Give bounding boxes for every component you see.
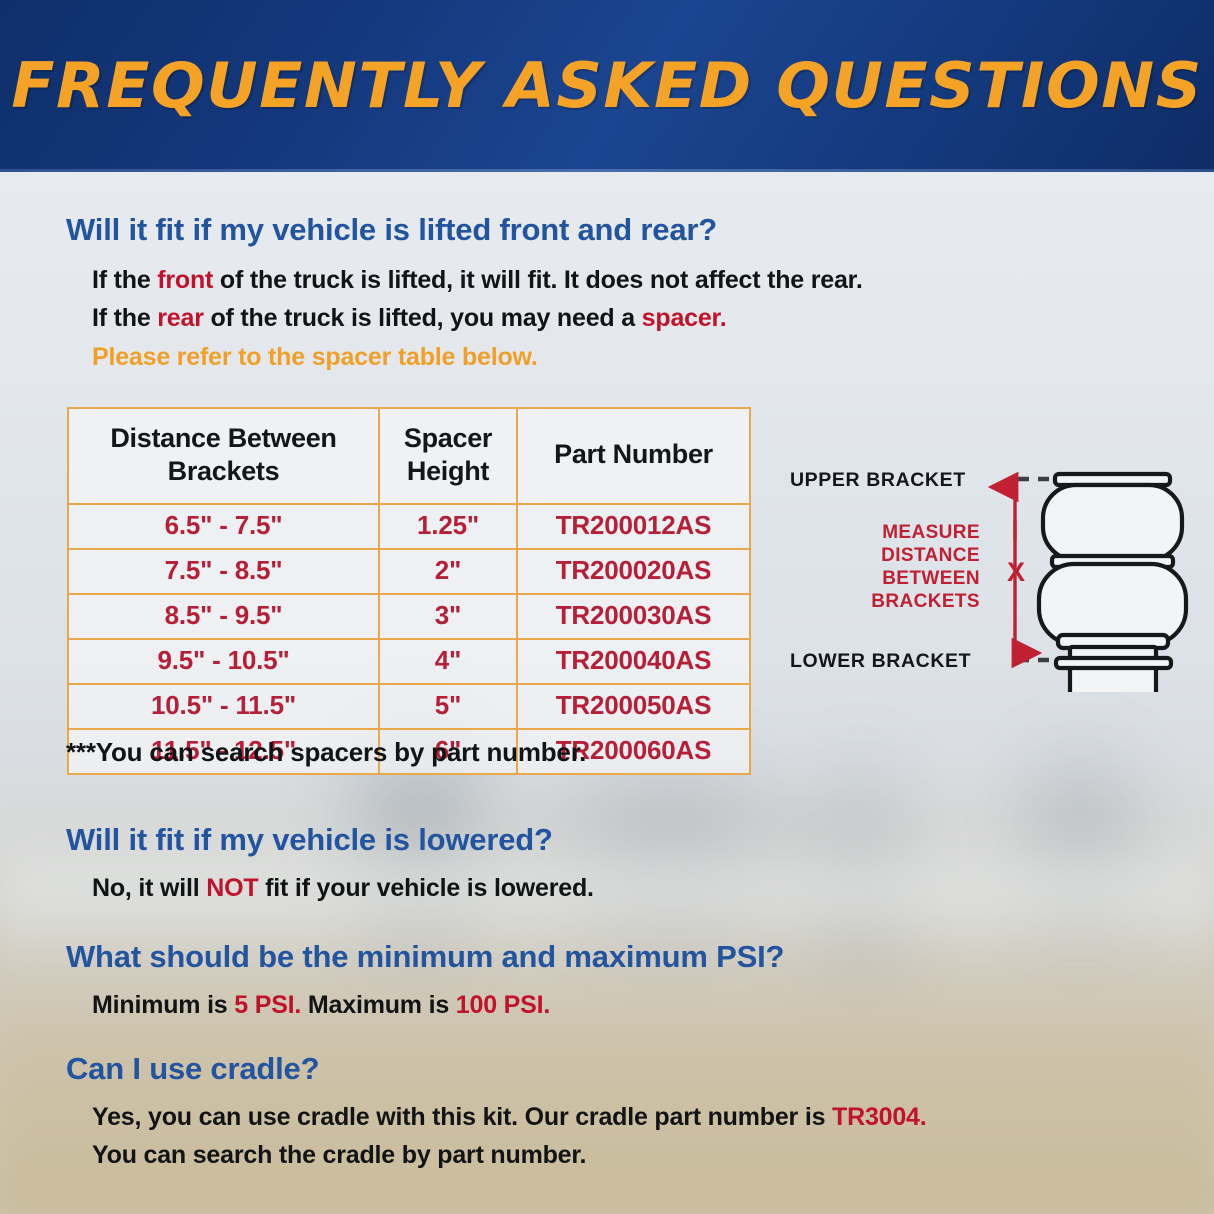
table-header-row: Distance Between Brackets Spacer Height … (68, 408, 750, 504)
faq-answer-line: Yes, you can use cradle with this kit. O… (92, 1098, 927, 1137)
measure-line-3: BETWEEN (882, 568, 980, 589)
answer-segment: TR3004. (832, 1103, 927, 1131)
faq-answer-cradle: Yes, you can use cradle with this kit. O… (92, 1098, 927, 1175)
spacer-table-head: Distance Between Brackets Spacer Height … (68, 408, 750, 504)
faq-answer-psi: Minimum is 5 PSI. Maximum is 100 PSI. (92, 986, 784, 1025)
cell-part-number: TR200012AS (517, 504, 750, 549)
faq-answer-line: If the front of the truck is lifted, it … (92, 261, 863, 300)
cell-distance: 10.5" - 11.5" (68, 684, 379, 729)
answer-segment: 100 PSI. (456, 991, 550, 1019)
lower-bracket-label: LOWER BRACKET (790, 650, 971, 672)
table-row: 7.5" - 8.5"2"TR200020AS (68, 549, 750, 594)
table-row: 8.5" - 9.5"3"TR200030AS (68, 594, 750, 639)
cell-spacer-height: 4" (379, 639, 517, 684)
answer-segment: No, it will (92, 874, 206, 902)
cell-spacer-height: 5" (379, 684, 517, 729)
answer-segment: Minimum is (92, 991, 234, 1019)
faq-answer-line: Please refer to the spacer table below. (92, 338, 863, 377)
answer-segment: You can search the cradle by part number… (92, 1141, 586, 1169)
faq-question-lifted: Will it fit if my vehicle is lifted fron… (66, 213, 863, 248)
answer-segment: If the (92, 304, 157, 332)
faq-question-cradle: Can I use cradle? (66, 1052, 927, 1087)
cell-part-number: TR200050AS (517, 684, 750, 729)
upper-bracket-label: UPPER BRACKET (790, 469, 966, 491)
dimension-symbol-x: X (1007, 557, 1025, 587)
cell-spacer-height: 2" (379, 549, 517, 594)
cell-part-number: TR200040AS (517, 639, 750, 684)
faq-answer-lifted: If the front of the truck is lifted, it … (92, 261, 863, 377)
cell-spacer-height: 3" (379, 594, 517, 639)
spacer-table: Distance Between Brackets Spacer Height … (67, 407, 751, 775)
faq-answer-lowered: No, it will NOT fit if your vehicle is l… (92, 869, 594, 908)
faq-item-psi: What should be the minimum and maximum P… (66, 940, 784, 1024)
answer-segment: Yes, you can use cradle with this kit. O… (92, 1103, 832, 1131)
answer-segment: Maximum is (301, 991, 456, 1019)
cell-part-number: TR200020AS (517, 549, 750, 594)
column-header-spacer: Spacer Height (379, 408, 517, 504)
page-header-banner: FREQUENTLY ASKED QUESTIONS (0, 0, 1214, 172)
answer-segment: Please refer to the spacer table below. (92, 343, 538, 371)
measure-line-1: MEASURE (882, 522, 980, 543)
table-row: 9.5" - 10.5"4"TR200040AS (68, 639, 750, 684)
answer-segment: of the truck is lifted, you may need a (204, 304, 642, 332)
spacer-table-body: 6.5" - 7.5"1.25"TR200012AS7.5" - 8.5"2"T… (68, 504, 750, 774)
air-spring-illustration (1039, 474, 1186, 692)
bracket-measurement-diagram: UPPER BRACKET LOWER BRACKET MEASURE DIST… (790, 457, 1190, 692)
faq-content: Will it fit if my vehicle is lifted fron… (0, 172, 1214, 1214)
measure-line-2: DISTANCE (881, 545, 980, 566)
column-header-part-number: Part Number (517, 408, 750, 504)
page-title: FREQUENTLY ASKED QUESTIONS (11, 55, 1202, 117)
answer-segment: If the (92, 266, 157, 294)
faq-item-cradle: Can I use cradle? Yes, you can use cradl… (66, 1052, 927, 1175)
answer-segment: NOT (206, 874, 258, 902)
measure-line-4: BRACKETS (871, 591, 980, 612)
answer-segment: front (157, 266, 213, 294)
answer-segment: of the truck is lifted, it will fit. It … (213, 266, 862, 294)
answer-segment: 5 PSI. (234, 991, 301, 1019)
cell-spacer-height: 1.25" (379, 504, 517, 549)
faq-answer-line: No, it will NOT fit if your vehicle is l… (92, 869, 594, 908)
faq-item-lowered: Will it fit if my vehicle is lowered? No… (66, 823, 594, 907)
faq-answer-line: You can search the cradle by part number… (92, 1136, 927, 1175)
answer-segment: fit if your vehicle is lowered. (258, 874, 593, 902)
answer-segment: spacer. (642, 304, 727, 332)
faq-answer-line: If the rear of the truck is lifted, you … (92, 299, 863, 338)
answer-segment: rear (157, 304, 203, 332)
faq-item-lifted: Will it fit if my vehicle is lifted fron… (66, 213, 863, 376)
faq-answer-line: Minimum is 5 PSI. Maximum is 100 PSI. (92, 986, 784, 1025)
faq-question-lowered: Will it fit if my vehicle is lowered? (66, 823, 594, 858)
bracket-diagram-svg: UPPER BRACKET LOWER BRACKET MEASURE DIST… (790, 457, 1190, 692)
cell-distance: 9.5" - 10.5" (68, 639, 379, 684)
column-header-distance: Distance Between Brackets (68, 408, 379, 504)
table-row: 6.5" - 7.5"1.25"TR200012AS (68, 504, 750, 549)
spacer-table-note: ***You can search spacers by part number… (66, 737, 586, 768)
cell-distance: 7.5" - 8.5" (68, 549, 379, 594)
cell-distance: 8.5" - 9.5" (68, 594, 379, 639)
faq-question-psi: What should be the minimum and maximum P… (66, 940, 784, 975)
cell-distance: 6.5" - 7.5" (68, 504, 379, 549)
table-row: 10.5" - 11.5"5"TR200050AS (68, 684, 750, 729)
cell-part-number: TR200030AS (517, 594, 750, 639)
